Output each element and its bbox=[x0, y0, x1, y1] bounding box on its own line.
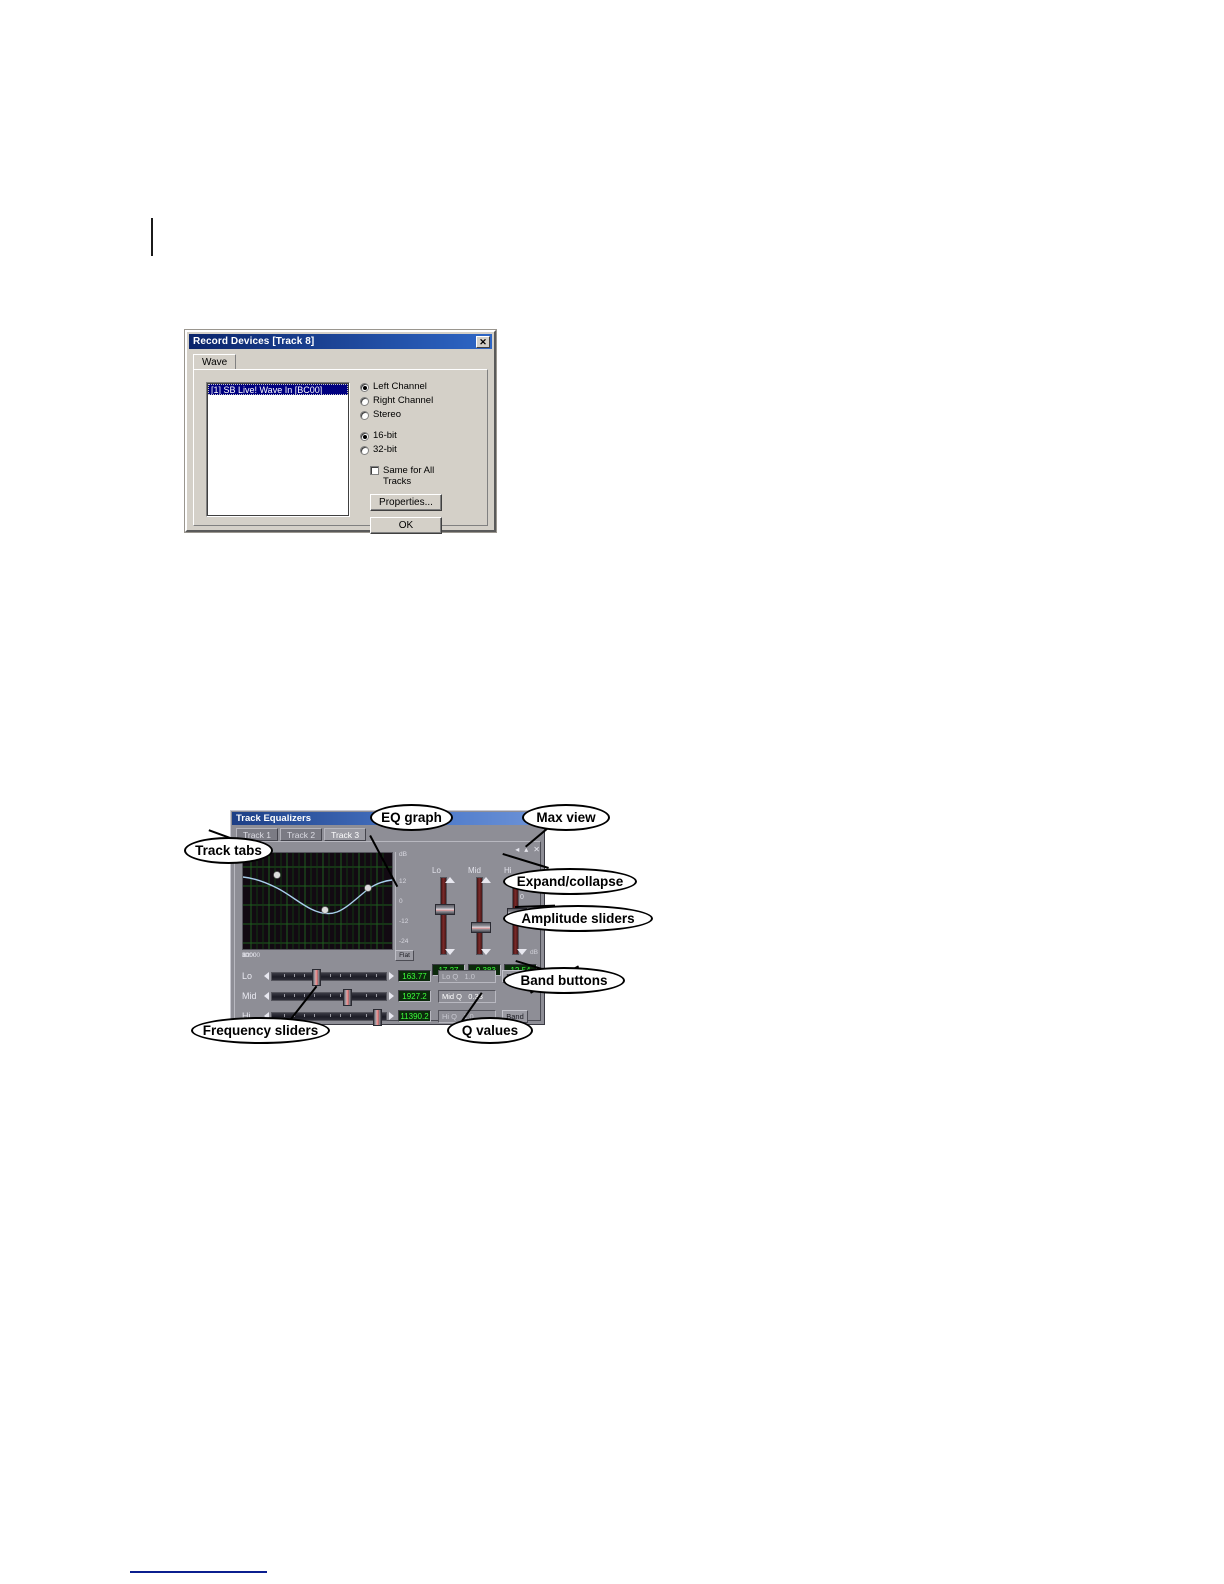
y-tick-0: 0 bbox=[399, 898, 403, 905]
arrow-right-icon[interactable] bbox=[389, 1012, 394, 1020]
arrow-up-icon[interactable] bbox=[445, 877, 455, 883]
frequency-value-mid[interactable]: 1927.2 bbox=[398, 990, 431, 1002]
slider-thumb[interactable] bbox=[343, 989, 352, 1006]
eq-curve-svg bbox=[243, 853, 392, 949]
slider-track[interactable] bbox=[440, 877, 447, 955]
arrow-left-icon[interactable] bbox=[264, 992, 269, 1000]
q-value-lo[interactable]: Lo Q 1.0 bbox=[438, 970, 496, 983]
radio-label: 16-bit bbox=[373, 430, 397, 442]
record-devices-tabstrip: Wave bbox=[193, 354, 488, 370]
slider-ticks bbox=[272, 993, 386, 1000]
callout-q-values: Q values bbox=[447, 1017, 533, 1044]
slider-track[interactable] bbox=[271, 992, 387, 1001]
radio-icon bbox=[360, 432, 369, 441]
checkbox-icon bbox=[370, 466, 379, 475]
footer-rule bbox=[130, 1571, 267, 1573]
record-devices-title: Record Devices [Track 8] bbox=[193, 336, 476, 347]
callout-amplitude-sliders: Amplitude sliders bbox=[503, 905, 653, 932]
eq-node-hi bbox=[365, 885, 372, 892]
y-tick-12: 12 bbox=[399, 878, 406, 885]
frequency-row-lo: Lo 163.77 Lo bbox=[242, 966, 542, 986]
device-listbox[interactable]: [1] SB Live! Wave In [BC00] bbox=[206, 382, 350, 517]
panel-close-icon[interactable]: ✕ bbox=[533, 846, 540, 854]
frequency-label: Mid bbox=[242, 991, 264, 1001]
flat-button[interactable]: Flat bbox=[395, 950, 414, 961]
q-label: Hi Q bbox=[442, 1012, 457, 1021]
amplitude-label: Lo bbox=[432, 866, 462, 875]
band-button-mid-placeholder bbox=[502, 990, 528, 1003]
radio-label: Right Channel bbox=[373, 395, 433, 407]
frequency-label: Lo bbox=[242, 971, 264, 981]
max-view-icon[interactable]: ▴ bbox=[524, 846, 528, 854]
radio-stereo[interactable]: Stereo bbox=[360, 409, 433, 422]
eq-graph-y-axis: dB 12 0 -12 -24 bbox=[395, 852, 412, 950]
radio-right-channel[interactable]: Right Channel bbox=[360, 395, 433, 408]
callout-max-view: Max view bbox=[522, 804, 610, 831]
radio-icon bbox=[360, 383, 369, 392]
arrow-down-icon[interactable] bbox=[481, 949, 491, 955]
slider-thumb[interactable] bbox=[373, 1009, 382, 1026]
arrow-right-icon[interactable] bbox=[389, 992, 394, 1000]
properties-button[interactable]: Properties... bbox=[370, 494, 442, 511]
eq-graph-x-axis: Hz 30 100 300 1000 3000 10000 bbox=[242, 952, 412, 963]
checkbox-label: Same for All Tracks bbox=[383, 465, 444, 487]
frequency-value-lo[interactable]: 163.77 bbox=[398, 970, 431, 982]
radio-icon bbox=[360, 446, 369, 455]
arrow-left-icon[interactable] bbox=[264, 972, 269, 980]
manual-page: Record Devices [Track 8] ✕ Wave [1] SB L… bbox=[0, 0, 1224, 1584]
frequency-row-mid: Mid 1927.2 Mi bbox=[242, 986, 542, 1006]
callout-eq-graph: EQ graph bbox=[370, 804, 453, 831]
ok-button[interactable]: OK bbox=[370, 517, 442, 534]
eq-graph-plot[interactable] bbox=[242, 852, 393, 950]
radio-32-bit[interactable]: 32-bit bbox=[360, 444, 433, 457]
y-axis-ruler bbox=[395, 852, 398, 950]
x-tick-10000: 10000 bbox=[242, 952, 260, 959]
track-equalizers-window: Track Equalizers ✕ Track 1 Track 2 Track… bbox=[230, 810, 545, 1025]
amplitude-label: Mid bbox=[468, 866, 498, 875]
callout-band-buttons: Band buttons bbox=[503, 967, 625, 994]
radio-16-bit[interactable]: 16-bit bbox=[360, 430, 433, 443]
q-number: 1.0 bbox=[465, 972, 475, 981]
record-devices-window: Record Devices [Track 8] ✕ Wave [1] SB L… bbox=[185, 330, 496, 532]
record-devices-body: Wave [1] SB Live! Wave In [BC00] Left Ch… bbox=[187, 349, 494, 532]
callout-frequency-sliders: Frequency sliders bbox=[191, 1017, 330, 1044]
radio-label: Stereo bbox=[373, 409, 401, 421]
wave-tab-panel: [1] SB Live! Wave In [BC00] Left Channel… bbox=[193, 369, 488, 526]
track-equalizers-figure: Track Equalizers ✕ Track 1 Track 2 Track… bbox=[185, 795, 635, 1055]
callout-expand-collapse: Expand/collapse bbox=[503, 868, 637, 895]
q-label: Mid Q bbox=[442, 992, 462, 1001]
q-value-mid[interactable]: Mid Q 0.33 bbox=[438, 990, 496, 1003]
slider-thumb[interactable] bbox=[435, 904, 455, 915]
amplitude-slider-mid[interactable]: Mid bbox=[468, 866, 498, 955]
arrow-up-icon[interactable] bbox=[481, 877, 491, 883]
y-axis-unit: dB bbox=[399, 851, 407, 858]
slider-track[interactable] bbox=[476, 877, 483, 955]
tab-track-3[interactable]: Track 3 bbox=[324, 828, 366, 841]
callout-track-tabs: Track tabs bbox=[184, 837, 273, 864]
list-item[interactable]: [1] SB Live! Wave In [BC00] bbox=[208, 384, 348, 395]
radio-left-channel[interactable]: Left Channel bbox=[360, 381, 433, 394]
slider-ticks bbox=[272, 973, 386, 980]
frequency-value-hi[interactable]: 11390.2 bbox=[398, 1010, 431, 1022]
amplitude-unit-label: dB bbox=[530, 949, 538, 956]
slider-thumb[interactable] bbox=[312, 969, 321, 986]
amplitude-zero-mark: 0 bbox=[520, 894, 524, 901]
margin-rule bbox=[151, 218, 153, 256]
eq-node-mid bbox=[322, 907, 329, 914]
q-label: Lo Q bbox=[442, 972, 458, 981]
arrow-right-icon[interactable] bbox=[389, 972, 394, 980]
record-devices-titlebar: Record Devices [Track 8] ✕ bbox=[189, 334, 492, 349]
collapse-icon[interactable]: ◂ bbox=[515, 846, 519, 854]
slider-thumb[interactable] bbox=[471, 922, 491, 933]
radio-label: 32-bit bbox=[373, 444, 397, 456]
tab-track-2[interactable]: Track 2 bbox=[280, 828, 322, 841]
radio-icon bbox=[360, 411, 369, 420]
arrow-down-icon[interactable] bbox=[517, 949, 527, 955]
eq-window-controls: ◂ ▴ ✕ bbox=[515, 846, 540, 854]
arrow-down-icon[interactable] bbox=[445, 949, 455, 955]
same-for-all-tracks-checkbox[interactable]: Same for All Tracks bbox=[370, 465, 444, 487]
channel-and-bitdepth-group: Left Channel Right Channel Stereo 16-bit bbox=[360, 381, 433, 458]
close-icon[interactable]: ✕ bbox=[476, 336, 490, 348]
y-tick-neg24: -24 bbox=[399, 938, 408, 945]
radio-icon bbox=[360, 397, 369, 406]
eq-node-lo bbox=[274, 872, 281, 879]
amplitude-slider-lo[interactable]: Lo bbox=[432, 866, 462, 955]
y-tick-neg12: -12 bbox=[399, 918, 408, 925]
radio-label: Left Channel bbox=[373, 381, 427, 393]
slider-track[interactable] bbox=[271, 972, 387, 981]
tab-wave[interactable]: Wave bbox=[193, 354, 236, 370]
